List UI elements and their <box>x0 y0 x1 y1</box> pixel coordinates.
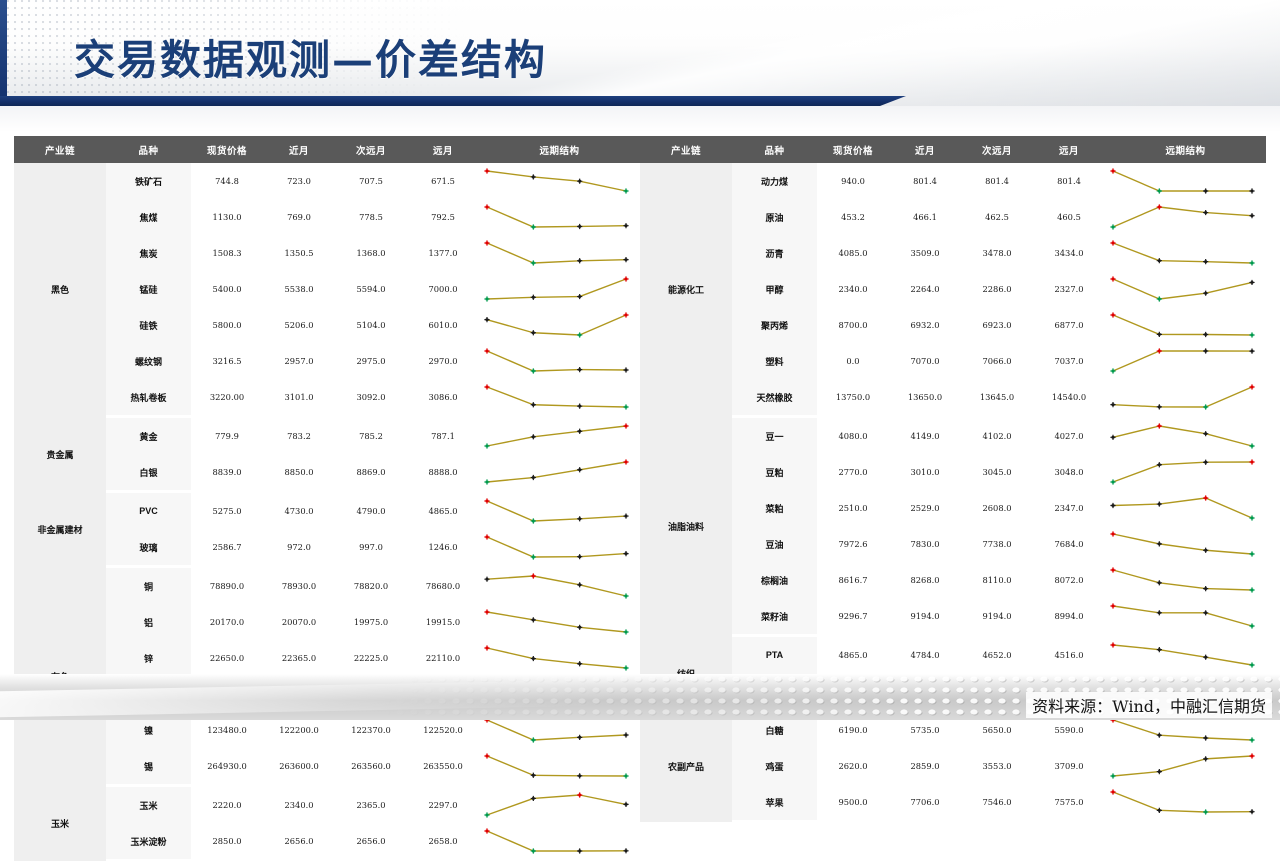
forward-structure-sparkline <box>1105 784 1266 822</box>
spot-price-cell: 7972.6 <box>817 526 889 562</box>
near-month-cell: 3101.0 <box>263 379 335 417</box>
table-row: 焦煤1130.0769.0778.5792.5 <box>14 199 640 235</box>
industry-chain-cell: 贵金属 <box>14 417 106 492</box>
near-month-cell: 78930.0 <box>263 567 335 605</box>
col-header-near: 近月 <box>889 136 961 163</box>
next-far-month-cell: 8110.0 <box>961 562 1033 598</box>
industry-chain-cell: 农副产品 <box>640 711 732 822</box>
variety-cell: 动力煤 <box>732 163 817 199</box>
table-row: 锰硅5400.05538.05594.07000.0 <box>14 271 640 307</box>
near-month-cell: 5538.0 <box>263 271 335 307</box>
variety-cell: 沥青 <box>732 235 817 271</box>
col-header-next: 次远月 <box>335 136 407 163</box>
table-row: 天然橡胶13750.013650.013645.014540.0 <box>640 379 1266 417</box>
near-month-cell: 2656.0 <box>263 823 335 861</box>
variety-cell: PVC <box>106 492 191 530</box>
spot-price-cell: 9500.0 <box>817 784 889 822</box>
variety-cell: 天然橡胶 <box>732 379 817 417</box>
variety-cell: 锡 <box>106 748 191 786</box>
far-month-cell: 7684.0 <box>1033 526 1105 562</box>
near-month-cell: 4149.0 <box>889 417 961 455</box>
table-row: 玻璃2586.7972.0997.01246.0 <box>14 529 640 567</box>
near-month-cell: 20070.0 <box>263 604 335 640</box>
next-far-month-cell: 9194.0 <box>961 598 1033 636</box>
forward-structure-sparkline <box>479 163 640 199</box>
spot-price-cell: 2586.7 <box>191 529 263 567</box>
forward-structure-sparkline <box>1105 454 1266 490</box>
forward-structure-sparkline <box>479 529 640 567</box>
industry-chain-cell: 非金属建材 <box>14 492 106 567</box>
variety-cell: 豆粕 <box>732 454 817 490</box>
col-header-struct: 远期结构 <box>1105 136 1266 163</box>
spot-price-cell: 940.0 <box>817 163 889 199</box>
far-month-cell: 19915.0 <box>407 604 479 640</box>
table-row: 玉米淀粉2850.02656.02656.02658.0 <box>14 823 640 861</box>
forward-structure-sparkline <box>479 454 640 492</box>
variety-cell: 螺纹钢 <box>106 343 191 379</box>
variety-cell: 锌 <box>106 640 191 676</box>
spot-price-cell: 8700.0 <box>817 307 889 343</box>
spot-price-cell: 779.9 <box>191 417 263 455</box>
near-month-cell: 263600.0 <box>263 748 335 786</box>
far-month-cell: 3086.0 <box>407 379 479 417</box>
spot-price-cell: 2220.0 <box>191 786 263 824</box>
next-far-month-cell: 801.4 <box>961 163 1033 199</box>
next-far-month-cell: 6923.0 <box>961 307 1033 343</box>
near-month-cell: 3509.0 <box>889 235 961 271</box>
far-month-cell: 671.5 <box>407 163 479 199</box>
col-header-variety: 品种 <box>732 136 817 163</box>
spot-price-cell: 3216.5 <box>191 343 263 379</box>
next-far-month-cell: 7738.0 <box>961 526 1033 562</box>
forward-structure-sparkline <box>479 307 640 343</box>
spot-price-cell: 5275.0 <box>191 492 263 530</box>
variety-cell: 锰硅 <box>106 271 191 307</box>
table-row: 螺纹钢3216.52957.02975.02970.0 <box>14 343 640 379</box>
col-header-spot: 现货价格 <box>191 136 263 163</box>
col-header-far: 远月 <box>407 136 479 163</box>
forward-structure-sparkline <box>479 823 640 861</box>
far-month-cell: 1246.0 <box>407 529 479 567</box>
variety-cell: 豆一 <box>732 417 817 455</box>
variety-cell: 焦煤 <box>106 199 191 235</box>
far-month-cell: 3709.0 <box>1033 748 1105 784</box>
next-far-month-cell: 4790.0 <box>335 492 407 530</box>
forward-structure-sparkline <box>1105 598 1266 636</box>
forward-structure-sparkline <box>1105 163 1266 199</box>
next-far-month-cell: 4652.0 <box>961 636 1033 674</box>
far-month-cell: 3434.0 <box>1033 235 1105 271</box>
spot-price-cell: 22650.0 <box>191 640 263 676</box>
far-month-cell: 7575.0 <box>1033 784 1105 822</box>
forward-structure-sparkline <box>1105 235 1266 271</box>
far-month-cell: 2327.0 <box>1033 271 1105 307</box>
table-row: 聚丙烯8700.06932.06923.06877.0 <box>640 307 1266 343</box>
far-month-cell: 8072.0 <box>1033 562 1105 598</box>
next-far-month-cell: 2975.0 <box>335 343 407 379</box>
source-note: 资料来源：Wind，中融汇信期货 <box>1026 692 1272 718</box>
far-month-cell: 2658.0 <box>407 823 479 861</box>
col-header-near: 近月 <box>263 136 335 163</box>
near-month-cell: 3010.0 <box>889 454 961 490</box>
spot-price-cell: 5400.0 <box>191 271 263 307</box>
col-header-next: 次远月 <box>961 136 1033 163</box>
forward-structure-sparkline <box>479 640 640 676</box>
col-header-struct: 远期结构 <box>479 136 640 163</box>
table-row: 油脂油料豆一4080.04149.04102.04027.0 <box>640 417 1266 455</box>
spot-price-cell: 20170.0 <box>191 604 263 640</box>
spot-price-cell: 2850.0 <box>191 823 263 861</box>
table-row: 白银8839.08850.08869.08888.0 <box>14 454 640 492</box>
next-far-month-cell: 2286.0 <box>961 271 1033 307</box>
far-month-cell: 3048.0 <box>1033 454 1105 490</box>
forward-structure-sparkline <box>479 271 640 307</box>
spot-price-cell: 2770.0 <box>817 454 889 490</box>
near-month-cell: 769.0 <box>263 199 335 235</box>
near-month-cell: 5206.0 <box>263 307 335 343</box>
next-far-month-cell: 8869.0 <box>335 454 407 492</box>
spot-price-cell: 0.0 <box>817 343 889 379</box>
forward-structure-sparkline <box>479 786 640 824</box>
forward-structure-sparkline <box>1105 417 1266 455</box>
variety-cell: 玻璃 <box>106 529 191 567</box>
spot-price-cell: 2620.0 <box>817 748 889 784</box>
forward-structure-sparkline <box>1105 562 1266 598</box>
spot-price-cell: 453.2 <box>817 199 889 235</box>
next-far-month-cell: 7546.0 <box>961 784 1033 822</box>
variety-cell: PTA <box>732 636 817 674</box>
spot-price-cell: 4085.0 <box>817 235 889 271</box>
variety-cell: 棕榈油 <box>732 562 817 598</box>
near-month-cell: 466.1 <box>889 199 961 235</box>
table-row: 铝20170.020070.019975.019915.0 <box>14 604 640 640</box>
spot-price-cell: 1130.0 <box>191 199 263 235</box>
far-month-cell: 7000.0 <box>407 271 479 307</box>
far-month-cell: 801.4 <box>1033 163 1105 199</box>
variety-cell: 菜籽油 <box>732 598 817 636</box>
spot-price-cell: 78890.0 <box>191 567 263 605</box>
near-month-cell: 7830.0 <box>889 526 961 562</box>
near-month-cell: 1350.5 <box>263 235 335 271</box>
near-month-cell: 7070.0 <box>889 343 961 379</box>
table-row: 焦炭1508.31350.51368.01377.0 <box>14 235 640 271</box>
table-row: 非金属建材PVC5275.04730.04790.04865.0 <box>14 492 640 530</box>
far-month-cell: 7037.0 <box>1033 343 1105 379</box>
next-far-month-cell: 707.5 <box>335 163 407 199</box>
next-far-month-cell: 4102.0 <box>961 417 1033 455</box>
table-row: 塑料0.07070.07066.07037.0 <box>640 343 1266 379</box>
table-row: 原油453.2466.1462.5460.5 <box>640 199 1266 235</box>
col-header-chain: 产业链 <box>640 136 732 163</box>
near-month-cell: 2957.0 <box>263 343 335 379</box>
next-far-month-cell: 997.0 <box>335 529 407 567</box>
near-month-cell: 2264.0 <box>889 271 961 307</box>
table-row: 贵金属黄金779.9783.2785.2787.1 <box>14 417 640 455</box>
variety-cell: 聚丙烯 <box>732 307 817 343</box>
next-far-month-cell: 1368.0 <box>335 235 407 271</box>
spot-price-cell: 5800.0 <box>191 307 263 343</box>
far-month-cell: 22110.0 <box>407 640 479 676</box>
spot-price-cell: 1508.3 <box>191 235 263 271</box>
spot-price-cell: 2340.0 <box>817 271 889 307</box>
next-far-month-cell: 2608.0 <box>961 490 1033 526</box>
near-month-cell: 972.0 <box>263 529 335 567</box>
table-body-right: 能源化工动力煤940.0801.4801.4801.4原油453.2466.14… <box>640 163 1266 822</box>
table-row: 苹果9500.07706.07546.07575.0 <box>640 784 1266 822</box>
far-month-cell: 2297.0 <box>407 786 479 824</box>
near-month-cell: 8850.0 <box>263 454 335 492</box>
variety-cell: 黄金 <box>106 417 191 455</box>
table-row: 硅铁5800.05206.05104.06010.0 <box>14 307 640 343</box>
forward-structure-sparkline <box>1105 490 1266 526</box>
variety-cell: 焦炭 <box>106 235 191 271</box>
col-header-spot: 现货价格 <box>817 136 889 163</box>
next-far-month-cell: 5104.0 <box>335 307 407 343</box>
table-row: 菜粕2510.02529.02608.02347.0 <box>640 490 1266 526</box>
table-row: 黑色铁矿石744.8723.0707.5671.5 <box>14 163 640 199</box>
far-month-cell: 14540.0 <box>1033 379 1105 417</box>
near-month-cell: 783.2 <box>263 417 335 455</box>
near-month-cell: 22365.0 <box>263 640 335 676</box>
table-row: 热轧卷板3220.003101.03092.03086.0 <box>14 379 640 417</box>
spread-table-left: 产业链 品种 现货价格 近月 次远月 远月 远期结构 黑色铁矿石744.8723… <box>14 136 640 862</box>
far-month-cell: 787.1 <box>407 417 479 455</box>
next-far-month-cell: 19975.0 <box>335 604 407 640</box>
header-row: 产业链 品种 现货价格 近月 次远月 远月 远期结构 <box>640 136 1266 163</box>
next-far-month-cell: 2365.0 <box>335 786 407 824</box>
variety-cell: 玉米 <box>106 786 191 824</box>
near-month-cell: 801.4 <box>889 163 961 199</box>
forward-structure-sparkline <box>1105 636 1266 674</box>
forward-structure-sparkline <box>479 199 640 235</box>
spot-price-cell: 3220.00 <box>191 379 263 417</box>
far-month-cell: 1377.0 <box>407 235 479 271</box>
near-month-cell: 2340.0 <box>263 786 335 824</box>
table-row: 沥青4085.03509.03478.03434.0 <box>640 235 1266 271</box>
next-far-month-cell: 778.5 <box>335 199 407 235</box>
slide-canvas: 交易数据观测—价差结构 产业链 品种 现货价格 近月 次远月 远月 远期结构 黑… <box>0 0 1280 720</box>
table-row: 锡264930.0263600.0263560.0263550.0 <box>14 748 640 786</box>
table-head-right: 产业链 品种 现货价格 近月 次远月 远月 远期结构 <box>640 136 1266 163</box>
left-accent-rail <box>0 0 7 106</box>
header-blue-ribbon <box>0 96 906 106</box>
far-month-cell: 6010.0 <box>407 307 479 343</box>
forward-structure-sparkline <box>479 748 640 786</box>
header-row: 产业链 品种 现货价格 近月 次远月 远月 远期结构 <box>14 136 640 163</box>
near-month-cell: 7706.0 <box>889 784 961 822</box>
next-far-month-cell: 2656.0 <box>335 823 407 861</box>
spot-price-cell: 9296.7 <box>817 598 889 636</box>
table-row: 能源化工动力煤940.0801.4801.4801.4 <box>640 163 1266 199</box>
next-far-month-cell: 78820.0 <box>335 567 407 605</box>
variety-cell: 铝 <box>106 604 191 640</box>
col-header-variety: 品种 <box>106 136 191 163</box>
col-header-far: 远月 <box>1033 136 1105 163</box>
col-header-chain: 产业链 <box>14 136 106 163</box>
table-row: 纺织PTA4865.04784.04652.04516.0 <box>640 636 1266 674</box>
next-far-month-cell: 3045.0 <box>961 454 1033 490</box>
far-month-cell: 8888.0 <box>407 454 479 492</box>
far-month-cell: 4516.0 <box>1033 636 1105 674</box>
table-row: 棕榈油8616.78268.08110.08072.0 <box>640 562 1266 598</box>
near-month-cell: 4730.0 <box>263 492 335 530</box>
variety-cell: 铁矿石 <box>106 163 191 199</box>
spot-price-cell: 264930.0 <box>191 748 263 786</box>
variety-cell: 豆油 <box>732 526 817 562</box>
next-far-month-cell: 462.5 <box>961 199 1033 235</box>
variety-cell: 铜 <box>106 567 191 605</box>
spot-price-cell: 744.8 <box>191 163 263 199</box>
near-month-cell: 2859.0 <box>889 748 961 784</box>
variety-cell: 鸡蛋 <box>732 748 817 784</box>
table-head-left: 产业链 品种 现货价格 近月 次远月 远月 远期结构 <box>14 136 640 163</box>
table-row: 甲醇2340.02264.02286.02327.0 <box>640 271 1266 307</box>
far-month-cell: 2347.0 <box>1033 490 1105 526</box>
spot-price-cell: 4865.0 <box>817 636 889 674</box>
forward-structure-sparkline <box>1105 307 1266 343</box>
variety-cell: 原油 <box>732 199 817 235</box>
page-title: 交易数据观测—价差结构 <box>74 36 547 84</box>
near-month-cell: 6932.0 <box>889 307 961 343</box>
variety-cell: 白银 <box>106 454 191 492</box>
forward-structure-sparkline <box>1105 526 1266 562</box>
spot-price-cell: 13750.0 <box>817 379 889 417</box>
variety-cell: 菜粕 <box>732 490 817 526</box>
spot-price-cell: 8616.7 <box>817 562 889 598</box>
variety-cell: 热轧卷板 <box>106 379 191 417</box>
forward-structure-sparkline <box>479 235 640 271</box>
table-row: 豆粕2770.03010.03045.03048.0 <box>640 454 1266 490</box>
next-far-month-cell: 3092.0 <box>335 379 407 417</box>
industry-chain-cell: 能源化工 <box>640 163 732 417</box>
forward-structure-sparkline <box>1105 199 1266 235</box>
near-month-cell: 9194.0 <box>889 598 961 636</box>
near-month-cell: 8268.0 <box>889 562 961 598</box>
forward-structure-sparkline <box>479 417 640 455</box>
next-far-month-cell: 3478.0 <box>961 235 1033 271</box>
far-month-cell: 263550.0 <box>407 748 479 786</box>
variety-cell: 苹果 <box>732 784 817 822</box>
far-month-cell: 6877.0 <box>1033 307 1105 343</box>
forward-structure-sparkline <box>479 492 640 530</box>
next-far-month-cell: 7066.0 <box>961 343 1033 379</box>
table-row: 有色铜78890.078930.078820.078680.0 <box>14 567 640 605</box>
variety-cell: 玉米淀粉 <box>106 823 191 861</box>
near-month-cell: 2529.0 <box>889 490 961 526</box>
near-month-cell: 13650.0 <box>889 379 961 417</box>
near-month-cell: 4784.0 <box>889 636 961 674</box>
table-row: 豆油7972.67830.07738.07684.0 <box>640 526 1266 562</box>
far-month-cell: 2970.0 <box>407 343 479 379</box>
variety-cell: 塑料 <box>732 343 817 379</box>
table-row: 鸡蛋2620.02859.03553.03709.0 <box>640 748 1266 784</box>
far-month-cell: 4865.0 <box>407 492 479 530</box>
industry-chain-cell: 黑色 <box>14 163 106 417</box>
variety-cell: 甲醇 <box>732 271 817 307</box>
forward-structure-sparkline <box>1105 379 1266 417</box>
forward-structure-sparkline <box>479 379 640 417</box>
forward-structure-sparkline <box>1105 748 1266 784</box>
forward-structure-sparkline <box>1105 343 1266 379</box>
next-far-month-cell: 263560.0 <box>335 748 407 786</box>
forward-structure-sparkline <box>479 604 640 640</box>
next-far-month-cell: 3553.0 <box>961 748 1033 784</box>
spot-price-cell: 2510.0 <box>817 490 889 526</box>
industry-chain-cell: 玉米 <box>14 786 106 861</box>
next-far-month-cell: 13645.0 <box>961 379 1033 417</box>
header-under-sheen <box>0 106 1280 132</box>
near-month-cell: 723.0 <box>263 163 335 199</box>
spot-price-cell: 8839.0 <box>191 454 263 492</box>
next-far-month-cell: 785.2 <box>335 417 407 455</box>
next-far-month-cell: 22225.0 <box>335 640 407 676</box>
table-body-left: 黑色铁矿石744.8723.0707.5671.5焦煤1130.0769.077… <box>14 163 640 861</box>
far-month-cell: 8994.0 <box>1033 598 1105 636</box>
far-month-cell: 4027.0 <box>1033 417 1105 455</box>
far-month-cell: 78680.0 <box>407 567 479 605</box>
forward-structure-sparkline <box>479 343 640 379</box>
forward-structure-sparkline <box>479 567 640 605</box>
table-row: 菜籽油9296.79194.09194.08994.0 <box>640 598 1266 636</box>
table-row: 锌22650.022365.022225.022110.0 <box>14 640 640 676</box>
next-far-month-cell: 5594.0 <box>335 271 407 307</box>
far-month-cell: 792.5 <box>407 199 479 235</box>
spot-price-cell: 4080.0 <box>817 417 889 455</box>
forward-structure-sparkline <box>1105 271 1266 307</box>
table-row: 玉米玉米2220.02340.02365.02297.0 <box>14 786 640 824</box>
industry-chain-cell: 油脂油料 <box>640 417 732 636</box>
variety-cell: 硅铁 <box>106 307 191 343</box>
far-month-cell: 460.5 <box>1033 199 1105 235</box>
